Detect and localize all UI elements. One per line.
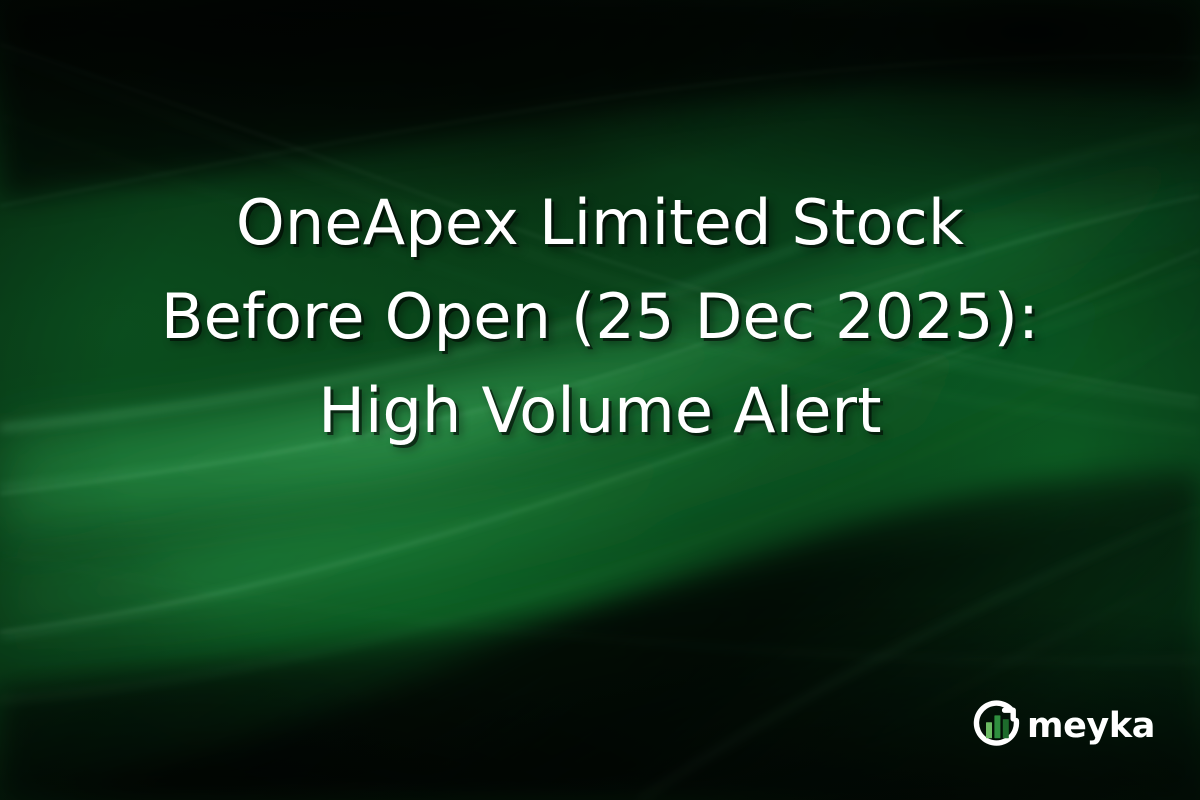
logo-bar-2 <box>994 715 1000 738</box>
meyka-circular-bar-chart-icon <box>971 698 1025 752</box>
logo-bar-3 <box>1003 719 1009 738</box>
brand-wordmark: meyka <box>1027 709 1155 744</box>
logo-bar-1 <box>986 722 992 738</box>
share-card-canvas: OneApex Limited Stock Before Open (25 De… <box>0 0 1200 800</box>
headline-line-3: High Volume Alert <box>0 364 1200 458</box>
brand-logo[interactable]: meyka <box>971 698 1155 752</box>
headline-line-1: OneApex Limited Stock <box>0 176 1200 270</box>
headline-line-2: Before Open (25 Dec 2025): <box>0 270 1200 364</box>
headline-block: OneApex Limited Stock Before Open (25 De… <box>0 176 1200 458</box>
